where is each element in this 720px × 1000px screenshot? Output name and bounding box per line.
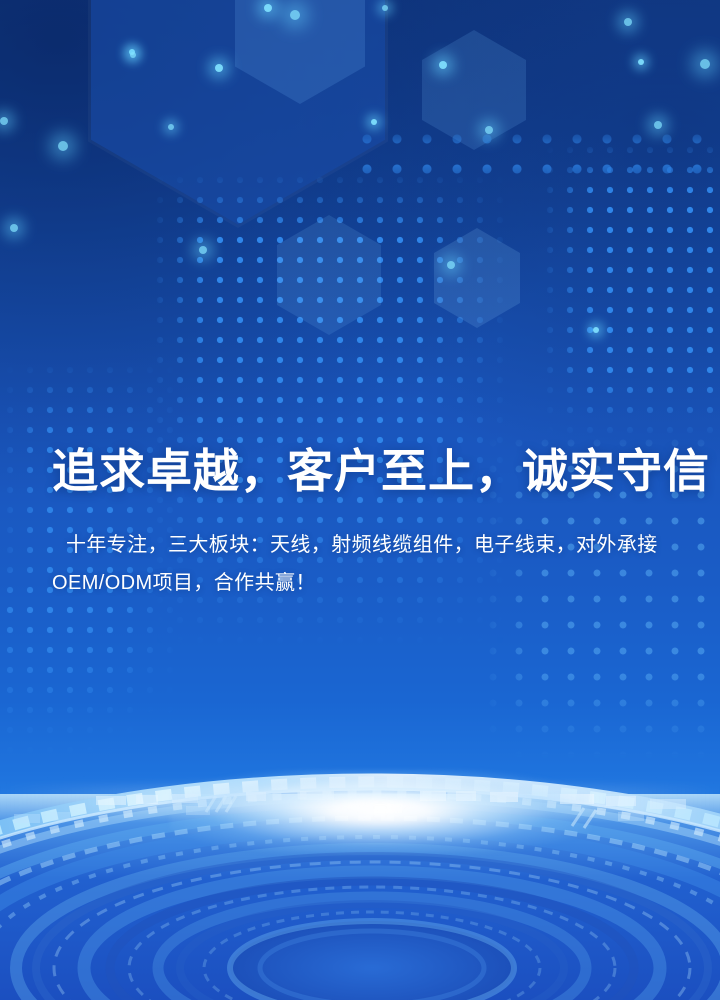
spark-dot-icon	[290, 10, 300, 20]
spark-dot-icon	[58, 141, 68, 151]
slogan-text-block: 追求卓越，客户至上，诚实守信 十年专注，三大板块：天线，射频线缆组件，电子线束，…	[52, 440, 678, 602]
spark-dot-icon	[199, 246, 207, 254]
spark-dot-icon	[264, 4, 272, 12]
spark-dot-icon	[371, 119, 377, 125]
spark-dot-icon	[654, 121, 662, 129]
spark-dot-icon	[700, 59, 710, 69]
spark-dot-icon	[215, 64, 223, 72]
spark-dot-icon	[382, 5, 388, 11]
spark-dot-icon	[168, 124, 174, 130]
page-title: 追求卓越，客户至上，诚实守信	[52, 440, 678, 502]
hud-tech-circle-graphic	[0, 742, 720, 1000]
spark-dot-icon	[485, 126, 493, 134]
spark-dot-icon	[0, 117, 8, 125]
spark-dot-icon	[10, 224, 18, 232]
spark-dot-icon	[638, 59, 644, 65]
spark-dot-icon	[624, 18, 632, 26]
hud-rings-svg	[0, 742, 720, 1000]
spark-dot-icon	[130, 52, 136, 58]
slogan-banner: 追求卓越，客户至上，诚实守信 十年专注，三大板块：天线，射频线缆组件，电子线束，…	[0, 0, 720, 1000]
spark-dot-icon	[439, 61, 447, 69]
dot-grid-top-right-block	[352, 124, 720, 194]
subtitle-text: 十年专注，三大板块：天线，射频线缆组件，电子线束，对外承接OEM/ODM项目，合…	[52, 526, 678, 602]
spark-dot-icon	[593, 327, 599, 333]
spark-dot-icon	[447, 261, 455, 269]
